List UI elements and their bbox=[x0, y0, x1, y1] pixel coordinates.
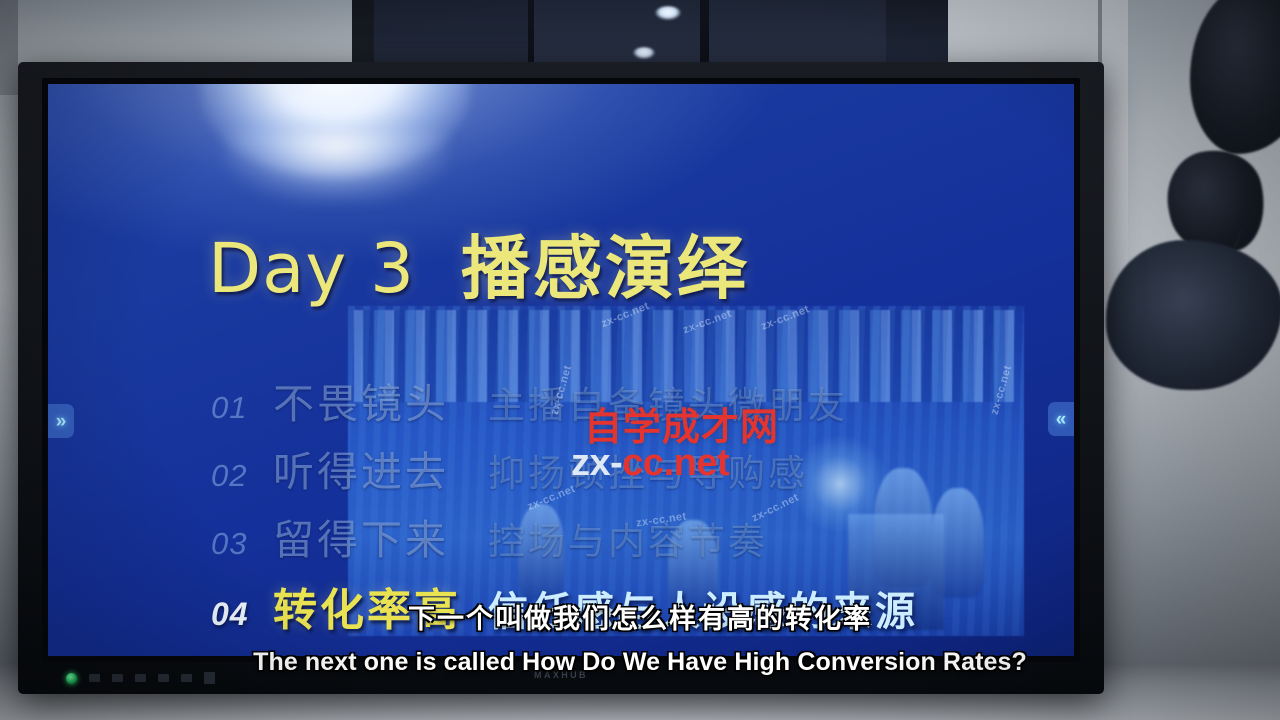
subtitle-english: The next one is called How Do We Have Hi… bbox=[0, 648, 1280, 677]
display-monitor: Day 3 播感演绎 01 不畏镜头 主播自备镜头微朋友 02 听得进去 抑扬顿… bbox=[18, 62, 1104, 694]
agenda-number: 03 bbox=[211, 526, 273, 562]
ceiling-light-2 bbox=[633, 47, 655, 59]
chevron-right-icon: » bbox=[56, 412, 67, 431]
headline-topic-label: 播感演绎 bbox=[461, 229, 749, 309]
panel-expand-right-tab[interactable]: « bbox=[1048, 402, 1074, 436]
agenda-row-3[interactable]: 03 留得下来 控场与内容节奏 bbox=[211, 506, 1041, 574]
ceiling-light-1 bbox=[655, 6, 681, 20]
agenda-title: 留得下来 bbox=[273, 506, 488, 566]
screen-glare-secondary bbox=[224, 132, 448, 202]
window-mullion-2 bbox=[700, 0, 709, 70]
window-pane-right bbox=[886, 0, 948, 64]
watermark-url-prefix: zx- bbox=[571, 442, 622, 484]
slide-headline: Day 3 播感演绎 bbox=[208, 212, 749, 312]
agenda-subtitle: 控场与内容节奏 bbox=[488, 511, 768, 565]
decor-plant-upper bbox=[1190, 0, 1280, 154]
agenda-number: 01 bbox=[211, 390, 273, 426]
presentation-screen[interactable]: Day 3 播感演绎 01 不畏镜头 主播自备镜头微朋友 02 听得进去 抑扬顿… bbox=[48, 84, 1074, 656]
panel-expand-left-tab[interactable]: » bbox=[48, 404, 74, 438]
decor-plant-lower bbox=[1106, 240, 1280, 390]
subtitle-chinese: 下一个叫做我们怎么样有高的转化率 bbox=[0, 604, 1280, 636]
watermark-url-suffix: cc.net bbox=[622, 442, 729, 484]
agenda-title: 听得进去 bbox=[273, 438, 488, 498]
subtitle-block: 下一个叫做我们怎么样有高的转化率 The next one is called … bbox=[0, 604, 1280, 677]
screenshot-scene: Day 3 播感演绎 01 不畏镜头 主播自备镜头微朋友 02 听得进去 抑扬顿… bbox=[0, 0, 1280, 720]
agenda-number: 02 bbox=[211, 458, 273, 494]
wall-panel-seam bbox=[0, 0, 18, 95]
headline-day-label: Day 3 bbox=[208, 229, 415, 309]
watermark-site-url: zx-cc.net bbox=[571, 442, 729, 485]
agenda-title: 不畏镜头 bbox=[273, 370, 488, 430]
chevron-left-icon: « bbox=[1056, 410, 1067, 429]
